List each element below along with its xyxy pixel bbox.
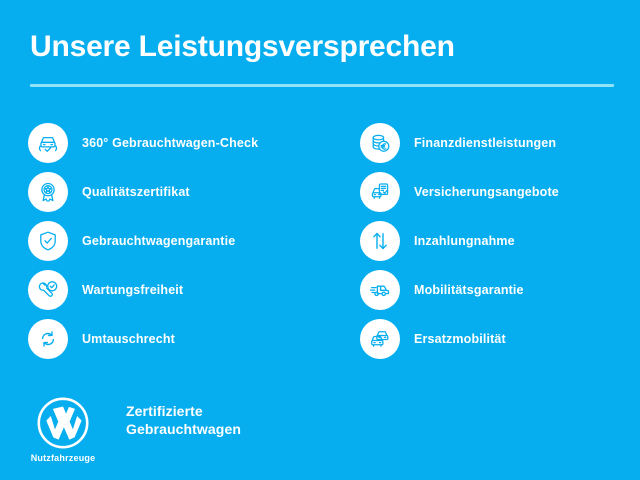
- feature-item-versicherungsangebote[interactable]: Versicherungsangebote: [360, 167, 640, 216]
- feature-label: Finanzdienstleistungen: [414, 135, 556, 151]
- brand-claim: Zertifizierte Gebrauchtwagen: [126, 402, 241, 438]
- exchange-arrows-icon: [28, 319, 68, 359]
- promo-poster: Unsere Leistungsversprechen 360° Gebrauc: [0, 0, 640, 480]
- brand-footer: Nutzfahrzeuge Zertifizierte Gebrauchtwag…: [30, 396, 241, 464]
- feature-item-umtauschrecht[interactable]: Umtauschrecht: [28, 314, 330, 363]
- header: Unsere Leistungsversprechen: [30, 28, 614, 87]
- car-document-check-icon: [360, 172, 400, 212]
- feature-item-gebrauchtwagen-check[interactable]: 360° Gebrauchtwagen-Check: [28, 118, 330, 167]
- quality-rosette-icon: [28, 172, 68, 212]
- car-inspection-icon: [28, 123, 68, 163]
- feature-column-right: Finanzdienstleistungen Versicherungsange…: [330, 118, 640, 363]
- feature-item-inzahlungnahme[interactable]: Inzahlungnahme: [360, 216, 640, 265]
- feature-item-wartungsfreiheit[interactable]: Wartungsfreiheit: [28, 265, 330, 314]
- feature-item-finanzdienstleistungen[interactable]: Finanzdienstleistungen: [360, 118, 640, 167]
- title-divider: [30, 84, 614, 87]
- feature-column-left: 360° Gebrauchtwagen-Check Qualitätszerti…: [0, 118, 330, 363]
- brand-subtitle: Nutzfahrzeuge: [31, 453, 96, 464]
- brand-mark: Nutzfahrzeuge: [30, 396, 96, 464]
- page-title: Unsere Leistungsversprechen: [30, 28, 614, 66]
- feature-label: Wartungsfreiheit: [82, 282, 183, 298]
- brand-claim-line2: Gebrauchtwagen: [126, 420, 241, 438]
- feature-label: Mobilitätsgarantie: [414, 282, 524, 298]
- shield-check-icon: [28, 221, 68, 261]
- up-down-arrows-icon: [360, 221, 400, 261]
- brand-claim-line1: Zertifizierte: [126, 402, 241, 420]
- feature-label: Inzahlungnahme: [414, 233, 515, 249]
- feature-label: Qualitätszertifikat: [82, 184, 190, 200]
- coins-euro-icon: [360, 123, 400, 163]
- feature-grid: 360° Gebrauchtwagen-Check Qualitätszerti…: [0, 118, 640, 363]
- two-cars-icon: [360, 319, 400, 359]
- feature-item-qualitaetszertifikat[interactable]: Qualitätszertifikat: [28, 167, 330, 216]
- volkswagen-logo-icon: [36, 396, 90, 450]
- feature-item-gebrauchtwagengarantie[interactable]: Gebrauchtwagengarantie: [28, 216, 330, 265]
- feature-label: Versicherungsangebote: [414, 184, 559, 200]
- feature-item-mobilitaetsgarantie[interactable]: Mobilitätsgarantie: [360, 265, 640, 314]
- wrench-check-icon: [28, 270, 68, 310]
- feature-label: Ersatzmobilität: [414, 331, 506, 347]
- feature-item-ersatzmobilitaet[interactable]: Ersatzmobilität: [360, 314, 640, 363]
- feature-label: 360° Gebrauchtwagen-Check: [82, 135, 258, 151]
- feature-label: Umtauschrecht: [82, 331, 175, 347]
- feature-label: Gebrauchtwagengarantie: [82, 233, 235, 249]
- van-speed-icon: [360, 270, 400, 310]
